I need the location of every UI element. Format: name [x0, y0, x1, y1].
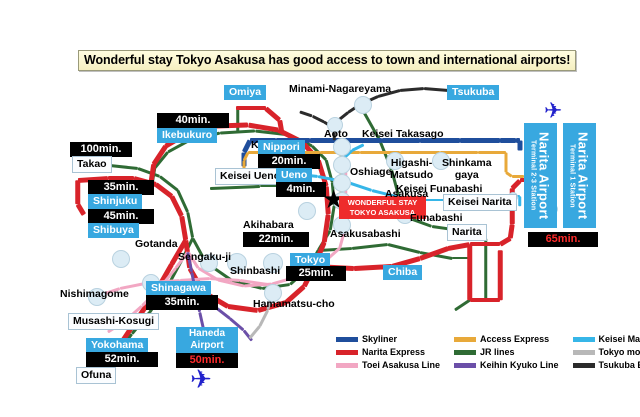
- legend-item: JR lines: [454, 347, 559, 357]
- travel-time-badge: 25min.: [286, 266, 346, 281]
- legend-swatch: [336, 337, 358, 342]
- rail-segment: [498, 250, 503, 300]
- station-label: Shinkama gaya: [442, 158, 492, 181]
- station-label: Funabashi: [410, 212, 463, 224]
- rail-segment: [519, 196, 522, 206]
- station-label[interactable]: Shibuya: [88, 223, 139, 238]
- transit-map: Narita Airport Terminal 2·3 Station Nari…: [0, 0, 640, 417]
- legend-label: Keisei Main Line: [599, 334, 640, 344]
- legend-swatch: [454, 350, 476, 355]
- station-dot[interactable]: [112, 250, 130, 268]
- rail-segment: [454, 299, 470, 311]
- station-label[interactable]: Ikebukuro: [157, 128, 217, 143]
- station-label: Gotanda: [135, 238, 178, 250]
- rail-segment: [400, 151, 440, 154]
- legend-item: Narita Express: [336, 347, 440, 357]
- station-label: Aoto: [324, 128, 348, 140]
- rail-segment: [300, 111, 313, 117]
- legend-swatch: [336, 350, 358, 355]
- station-label[interactable]: Yokohama: [86, 338, 148, 353]
- legend-swatch: [454, 337, 476, 342]
- rail-segment: [500, 138, 516, 143]
- legend-label: Toei Asakusa Line: [362, 360, 440, 370]
- station-label: Oshiage: [350, 166, 391, 178]
- narita-t23-name: Narita Airport: [537, 132, 552, 220]
- station-label: Asakusa: [385, 188, 428, 200]
- station-label: Minami-Nagareyama: [289, 83, 391, 95]
- station-label: Keisei Narita: [443, 194, 517, 211]
- rail-segment: [76, 203, 86, 215]
- legend-label: Tsukuba Express: [599, 360, 640, 370]
- travel-time-badge: 35min.: [146, 295, 218, 310]
- station-dot[interactable]: [333, 156, 351, 174]
- narita-t1-name: Narita Airport: [576, 132, 591, 220]
- rail-segment: [470, 298, 500, 303]
- rail-segment: [460, 138, 500, 143]
- narita-terminal-23-panel[interactable]: Narita Airport Terminal 2·3 Station: [524, 123, 557, 228]
- station-label: Keisei Ueno: [215, 168, 285, 185]
- narita-t1-terminal: Terminal 1 Station: [569, 144, 576, 208]
- station-label: Narita: [447, 224, 487, 241]
- haneda-airport-label: Haneda Airport: [176, 327, 238, 353]
- legend-label: Keihin Kyuko Line: [480, 360, 559, 370]
- narita-terminal-1-panel[interactable]: Narita Airport Terminal 1 Station: [563, 123, 596, 228]
- legend-swatch: [573, 337, 595, 342]
- station-label: Nishimagome: [60, 288, 129, 300]
- rail-segment: [348, 181, 373, 191]
- rail-segment: [210, 185, 260, 189]
- rail-segment: [512, 175, 524, 178]
- haneda-airport-group[interactable]: Haneda Airport 50min.: [176, 327, 238, 368]
- station-label[interactable]: Ueno: [276, 168, 312, 183]
- legend-label: Access Express: [480, 334, 549, 344]
- rail-segment: [352, 243, 388, 249]
- station-dot[interactable]: [333, 138, 351, 156]
- legend-label: JR lines: [480, 347, 515, 357]
- rail-segment: [210, 277, 240, 281]
- airplane-icon-narita: ✈: [544, 100, 562, 122]
- legend-swatch: [573, 363, 595, 368]
- travel-time-badge: 4min.: [276, 182, 326, 197]
- legend-item: Access Express: [454, 334, 559, 344]
- rail-segment: [400, 87, 424, 91]
- legend-item: Tokyo monorail: [573, 347, 640, 357]
- station-label: Sengaku-ji: [178, 251, 231, 263]
- travel-time-badge: 40min.: [157, 113, 229, 128]
- station-label[interactable]: Tsukuba: [447, 85, 499, 100]
- rail-segment: [249, 325, 261, 339]
- legend-item: Skyliner: [336, 334, 440, 344]
- legend-label: Skyliner: [362, 334, 397, 344]
- rail-segment: [278, 120, 284, 133]
- rail-segment: [478, 151, 506, 154]
- rail-segment: [180, 216, 188, 241]
- page-title: Wonderful stay Tokyo Asakusa has good ac…: [78, 50, 576, 71]
- travel-time-badge: 22min.: [243, 232, 309, 247]
- legend-swatch: [336, 363, 358, 368]
- travel-time-badge: 100min.: [70, 142, 132, 157]
- rail-segment: [518, 140, 523, 150]
- station-label: Hamamatsu-cho: [253, 298, 335, 310]
- rail-segment: [485, 238, 488, 300]
- station-label[interactable]: Omiya: [224, 85, 266, 100]
- station-label: Shinbashi: [230, 265, 280, 277]
- station-dot[interactable]: [354, 96, 372, 114]
- rail-segment: [110, 164, 138, 169]
- rail-segment: [187, 212, 194, 238]
- legend-label: Narita Express: [362, 347, 425, 357]
- station-dot[interactable]: [298, 202, 316, 220]
- station-label: Akihabara: [243, 219, 294, 231]
- legend-item: Toei Asakusa Line: [336, 360, 440, 370]
- airplane-icon-haneda: ✈: [190, 366, 212, 392]
- narita-t23-terminal: Terminal 2·3 Station: [530, 140, 537, 210]
- legend-swatch: [573, 350, 595, 355]
- station-label[interactable]: Shinjuku: [88, 194, 142, 209]
- station-label[interactable]: Chiba: [383, 265, 422, 280]
- station-label: Asakusabashi: [330, 228, 401, 240]
- rail-segment: [236, 106, 266, 111]
- station-label: Higashi- Matsudo: [390, 158, 433, 181]
- travel-time-badge: 20min.: [258, 154, 320, 169]
- rail-segment: [508, 224, 514, 239]
- rail-segment: [424, 87, 448, 91]
- rail-segment: [311, 115, 324, 123]
- rail-segment: [505, 152, 508, 172]
- station-label: Musashi-Kosugi: [68, 313, 159, 330]
- narita-airport-time: 65min.: [528, 232, 598, 247]
- station-label[interactable]: Shinagawa: [146, 281, 211, 296]
- station-label: Keisei Takasago: [362, 128, 444, 140]
- legend-item: Tsukuba Express: [573, 360, 640, 370]
- station-label[interactable]: Nippori: [258, 140, 305, 155]
- rail-segment: [468, 244, 473, 300]
- station-label: Takao: [72, 156, 112, 173]
- travel-time-badge: 35min.: [88, 180, 154, 195]
- rail-segment: [470, 242, 500, 247]
- legend-item: Keisei Main Line: [573, 334, 640, 344]
- rail-segment: [259, 309, 269, 326]
- travel-time-badge: 45min.: [88, 209, 154, 224]
- legend-label: Tokyo monorail: [599, 347, 640, 357]
- rail-segment: [76, 180, 81, 204]
- legend-item: Keihin Kyuko Line: [454, 360, 559, 370]
- travel-time-badge: 52min.: [86, 352, 158, 367]
- legend-swatch: [454, 363, 476, 368]
- legend: SkylinerAccess ExpressKeisei Main LineNa…: [336, 334, 640, 370]
- rail-segment: [388, 243, 421, 253]
- station-label: Ofuna: [76, 367, 116, 384]
